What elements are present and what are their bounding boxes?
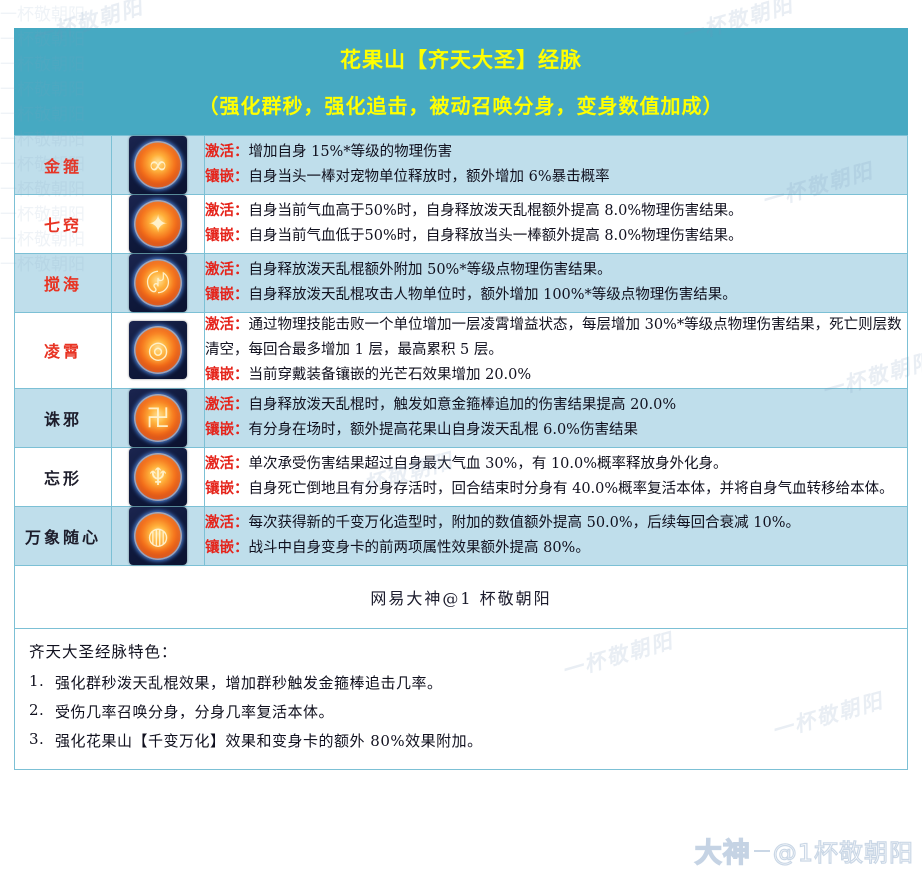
orb-shape: 卍: [134, 394, 182, 442]
signature-block: 网易大神@1 杯敬朝阳: [14, 566, 908, 629]
meridian-description: 激活：通过物理技能击败一个单位增加一层凌霄增益状态，每层增加 30%*等级点物理…: [205, 313, 908, 389]
page-subtitle: （强化群秒，强化追击，被动召唤分身，变身数值加成）: [14, 76, 908, 121]
note-number: 1.: [29, 672, 55, 693]
effect-line: 镶嵌：自身死亡倒地且有分身存活时，回合结束时分身有 40.0%概率复活本体，并将…: [205, 477, 907, 502]
table-row: 忘形 ♆ 激活：单次承受伤害结果超过自身最大气血 30%，有 10.0%概率释放…: [15, 447, 908, 506]
effect-line: 激活：自身释放泼天乱棍时，触发如意金箍棒追加的伤害结果提高 20.0%: [205, 393, 907, 418]
meridian-description: 激活：自身释放泼天乱棍额外附加 50%*等级点物理伤害结果。 镶嵌：自身释放泼天…: [205, 254, 908, 313]
effect-label: 激活：: [205, 316, 249, 333]
churn-sea-orb-icon: 〄: [129, 254, 187, 312]
effect-text: 通过物理技能击败一个单位增加一层凌霄增益状态，每层增加 30%*等级点物理伤害结…: [205, 317, 902, 358]
meridian-name: 搅海: [15, 254, 112, 313]
meridian-icon-cell: ♆: [112, 447, 205, 506]
orb-glyph: ♆: [134, 453, 182, 501]
brand-watermark-handle: @1杯敬朝阳: [773, 833, 914, 868]
table-row: 凌霄 ◎ 激活：通过物理技能击败一个单位增加一层凌霄增益状态，每层增加 30%*…: [15, 313, 908, 389]
header-banner: 花果山【齐天大圣】经脉 （强化群秒，强化追击，被动召唤分身，变身数值加成）: [14, 28, 908, 135]
effect-text: 自身释放泼天乱棍时，触发如意金箍棒追加的伤害结果提高 20.0%: [249, 397, 677, 413]
note-text: 强化花果山【千变万化】效果和变身卡的额外 80%效果附加。: [55, 730, 483, 751]
meridian-description: 激活：单次承受伤害结果超过自身最大气血 30%，有 10.0%概率释放身外化身。…: [205, 447, 908, 506]
effect-label: 镶嵌：: [205, 421, 249, 438]
meridian-icon-cell: ◎: [112, 313, 205, 389]
effect-label: 镶嵌：: [205, 366, 249, 383]
watermark-tile: 一杯敬朝阳: [0, 0, 922, 25]
effect-line: 激活：单次承受伤害结果超过自身最大气血 30%，有 10.0%概率释放身外化身。: [205, 452, 907, 477]
meridian-name: 金箍: [15, 136, 112, 195]
meridian-name: 万象随心: [15, 506, 112, 565]
effect-line: 镶嵌：自身释放泼天乱棍攻击人物单位时，额外增加 100%*等级点物理伤害结果。: [205, 283, 907, 308]
orb-shape: 〄: [134, 259, 182, 307]
effect-label: 激活：: [205, 143, 249, 160]
meridian-name: 七窍: [15, 195, 112, 254]
orb-shape: ∞: [134, 141, 182, 189]
effect-text: 当前穿戴装备镶嵌的光芒石效果增加 20.0%: [249, 367, 532, 383]
orb-glyph: ✦: [134, 200, 182, 248]
effect-text: 单次承受伤害结果超过自身最大气血 30%，有 10.0%概率释放身外化身。: [249, 456, 728, 472]
effect-label: 激活：: [205, 455, 249, 472]
table-row: 万象随心 ◍ 激活：每次获得新的千变万化造型时，附加的数值额外提高 50.0%，…: [15, 506, 908, 565]
notes-title: 齐天大圣经脉特色：: [29, 637, 893, 668]
effect-label: 镶嵌：: [205, 480, 249, 497]
page-title: 花果山【齐天大圣】经脉: [14, 38, 908, 76]
effect-line: 镶嵌：战斗中自身变身卡的前两项属性效果额外提高 80%。: [205, 536, 907, 561]
effect-label: 激活：: [205, 396, 249, 413]
orb-glyph: ∞: [134, 141, 182, 189]
meridian-description: 激活：每次获得新的千变万化造型时，附加的数值额外提高 50.0%，后续每回合衰减…: [205, 506, 908, 565]
effect-text: 自身释放泼天乱棍攻击人物单位时，额外增加 100%*等级点物理伤害结果。: [249, 287, 737, 303]
note-text: 强化群秒泼天乱棍效果，增加群秒触发金箍棒追击几率。: [55, 672, 443, 693]
orb-shape: ✦: [134, 200, 182, 248]
effect-text: 自身死亡倒地且有分身存活时，回合结束时分身有 40.0%概率复活本体，并将自身气…: [249, 481, 894, 497]
brand-watermark-dash: [754, 850, 770, 852]
orb-shape: ♆: [134, 453, 182, 501]
effect-text: 自身当前气血低于50%时，自身释放当头一棒额外提高 8.0%物理伤害结果。: [249, 228, 743, 244]
meridian-name: 忘形: [15, 447, 112, 506]
effect-label: 激活：: [205, 202, 249, 219]
effect-text: 战斗中自身变身卡的前两项属性效果额外提高 80%。: [249, 540, 590, 556]
effect-label: 镶嵌：: [205, 286, 249, 303]
meridian-description: 激活：自身当前气血高于50%时，自身释放泼天乱棍额外提高 8.0%物理伤害结果。…: [205, 195, 908, 254]
note-text: 受伤几率召唤分身，分身几率复活本体。: [55, 701, 334, 722]
effect-line: 镶嵌：自身当头一棒对宠物单位释放时，额外增加 6%暴击概率: [205, 165, 907, 190]
effect-label: 镶嵌：: [205, 227, 249, 244]
effect-line: 激活：每次获得新的千变万化造型时，附加的数值额外提高 50.0%，后续每回合衰减…: [205, 511, 907, 536]
orb-glyph: ◍: [134, 512, 182, 560]
meridian-icon-cell: 〄: [112, 254, 205, 313]
brand-watermark-name: 大神: [695, 831, 751, 870]
effect-line: 激活：增加自身 15%*等级的物理伤害: [205, 140, 907, 165]
zhuxie-orb-icon: 卍: [129, 389, 187, 447]
meridian-icon-cell: ∞: [112, 136, 205, 195]
meridian-icon-cell: ◍: [112, 506, 205, 565]
effect-label: 激活：: [205, 261, 249, 278]
meridian-description: 激活：增加自身 15%*等级的物理伤害 镶嵌：自身当头一棒对宠物单位释放时，额外…: [205, 136, 908, 195]
note-item: 3. 强化花果山【千变万化】效果和变身卡的额外 80%效果附加。: [29, 726, 893, 755]
effect-line: 激活：自身当前气血高于50%时，自身释放泼天乱棍额外提高 8.0%物理伤害结果。: [205, 199, 907, 224]
effect-text: 有分身在场时，额外提高花果山自身泼天乱棍 6.0%伤害结果: [249, 422, 638, 438]
meridian-name: 凌霄: [15, 313, 112, 389]
meridian-infographic: 花果山【齐天大圣】经脉 （强化群秒，强化追击，被动召唤分身，变身数值加成） 金箍…: [14, 28, 908, 770]
lingxiao-orb-icon: ◎: [129, 321, 187, 379]
orb-glyph: ◎: [134, 326, 182, 374]
effect-label: 激活：: [205, 514, 249, 531]
wangxing-orb-icon: ♆: [129, 448, 187, 506]
effect-text: 每次获得新的千变万化造型时，附加的数值额外提高 50.0%，后续每回合衰减 10…: [249, 515, 801, 531]
effect-text: 增加自身 15%*等级的物理伤害: [249, 144, 453, 160]
effect-text: 自身当前气血高于50%时，自身释放泼天乱棍额外提高 8.0%物理伤害结果。: [249, 203, 743, 219]
meridian-table: 金箍 ∞ 激活：增加自身 15%*等级的物理伤害 镶嵌：自身当头一棒对宠物单位释…: [14, 135, 908, 566]
meridian-table-body: 金箍 ∞ 激活：增加自身 15%*等级的物理伤害 镶嵌：自身当头一棒对宠物单位释…: [15, 136, 908, 566]
table-row: 七窍 ✦ 激活：自身当前气血高于50%时，自身释放泼天乱棍额外提高 8.0%物理…: [15, 195, 908, 254]
effect-label: 镶嵌：: [205, 539, 249, 556]
effect-text: 自身释放泼天乱棍额外附加 50%*等级点物理伤害结果。: [249, 262, 612, 278]
table-row: 诛邪 卍 激活：自身释放泼天乱棍时，触发如意金箍棒追加的伤害结果提高 20.0%…: [15, 388, 908, 447]
golden-hoop-orb-icon: ∞: [129, 136, 187, 194]
effect-line: 激活：自身释放泼天乱棍额外附加 50%*等级点物理伤害结果。: [205, 258, 907, 283]
table-row: 金箍 ∞ 激活：增加自身 15%*等级的物理伤害 镶嵌：自身当头一棒对宠物单位释…: [15, 136, 908, 195]
effect-line: 镶嵌：当前穿戴装备镶嵌的光芒石效果增加 20.0%: [205, 363, 907, 388]
meridian-icon-cell: ✦: [112, 195, 205, 254]
effect-text: 自身当头一棒对宠物单位释放时，额外增加 6%暴击概率: [249, 169, 610, 185]
effect-line: 镶嵌：自身当前气血低于50%时，自身释放当头一棒额外提高 8.0%物理伤害结果。: [205, 224, 907, 249]
note-item: 2. 受伤几率召唤分身，分身几率复活本体。: [29, 697, 893, 726]
effect-line: 激活：通过物理技能击败一个单位增加一层凌霄增益状态，每层增加 30%*等级点物理…: [205, 313, 907, 363]
meridian-name: 诛邪: [15, 388, 112, 447]
notes-block: 齐天大圣经脉特色： 1. 强化群秒泼天乱棍效果，增加群秒触发金箍棒追击几率。 2…: [14, 629, 908, 770]
orb-shape: ◍: [134, 512, 182, 560]
orb-shape: ◎: [134, 326, 182, 374]
signature-text: 网易大神@1 杯敬朝阳: [370, 585, 551, 609]
note-number: 2.: [29, 701, 55, 722]
table-row: 搅海 〄 激活：自身释放泼天乱棍额外附加 50%*等级点物理伤害结果。 镶嵌：自…: [15, 254, 908, 313]
seven-orifices-orb-icon: ✦: [129, 195, 187, 253]
effect-line: 镶嵌：有分身在场时，额外提高花果山自身泼天乱棍 6.0%伤害结果: [205, 418, 907, 443]
note-item: 1. 强化群秒泼天乱棍效果，增加群秒触发金箍棒追击几率。: [29, 668, 893, 697]
note-number: 3.: [29, 730, 55, 751]
meridian-description: 激活：自身释放泼天乱棍时，触发如意金箍棒追加的伤害结果提高 20.0% 镶嵌：有…: [205, 388, 908, 447]
effect-label: 镶嵌：: [205, 168, 249, 185]
wanxiang-orb-icon: ◍: [129, 507, 187, 565]
meridian-icon-cell: 卍: [112, 388, 205, 447]
orb-glyph: 卍: [134, 394, 182, 442]
brand-watermark: 大神 @1杯敬朝阳: [695, 831, 914, 870]
orb-glyph: 〄: [134, 259, 182, 307]
